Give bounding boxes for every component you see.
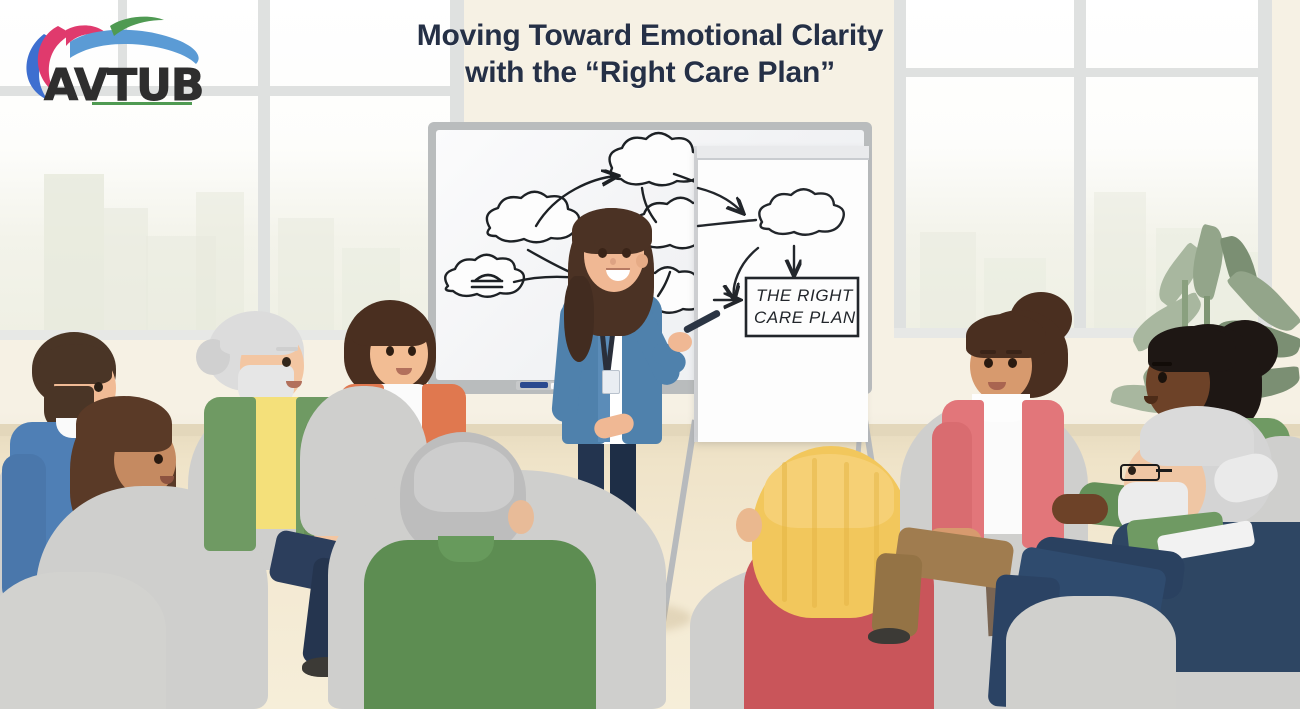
chair-armrest — [0, 572, 166, 709]
eye — [984, 358, 993, 368]
eye — [1158, 372, 1167, 383]
hand — [1052, 494, 1108, 524]
illustration-canvas: Moving Toward Emotional Clarity with the… — [0, 0, 1300, 709]
presenter-eye-left — [598, 248, 607, 258]
eye — [408, 346, 416, 356]
flipchart-clamp — [697, 146, 869, 160]
presenter-eye-right — [622, 248, 631, 258]
marker-pen — [683, 309, 722, 334]
jacket-left — [204, 397, 256, 551]
eye — [1128, 466, 1136, 475]
eye — [154, 454, 163, 464]
collar — [438, 536, 494, 562]
eye — [282, 357, 291, 367]
chair-armrest — [1006, 596, 1176, 709]
presenter-ponytail — [564, 276, 594, 362]
flipchart-cloud — [759, 189, 843, 235]
eyeglasses — [1120, 464, 1160, 481]
ear — [736, 508, 762, 542]
logo-wordmark: AVTUB — [44, 60, 203, 111]
ear — [508, 500, 534, 534]
presenter-hand — [668, 332, 692, 352]
page-title: Moving Toward Emotional Clarity with the… — [330, 18, 970, 92]
eye — [94, 382, 103, 392]
page-title-line-1: Moving Toward Emotional Clarity — [330, 18, 970, 55]
id-badge — [602, 370, 620, 394]
care-plan-text-line-1: THE RIGHT — [756, 286, 856, 306]
window-mullion — [1074, 0, 1086, 332]
audience-member-grey-back-view — [366, 432, 616, 709]
green-polo — [364, 540, 596, 709]
avtub-logo[interactable]: AVTUB — [14, 12, 210, 108]
window-mullion — [258, 0, 270, 334]
presenter-hair-front — [572, 208, 652, 254]
care-plan-text-line-2: CARE PLAN — [754, 308, 864, 328]
page-title-line-2: with the “Right Care Plan” — [330, 55, 970, 92]
